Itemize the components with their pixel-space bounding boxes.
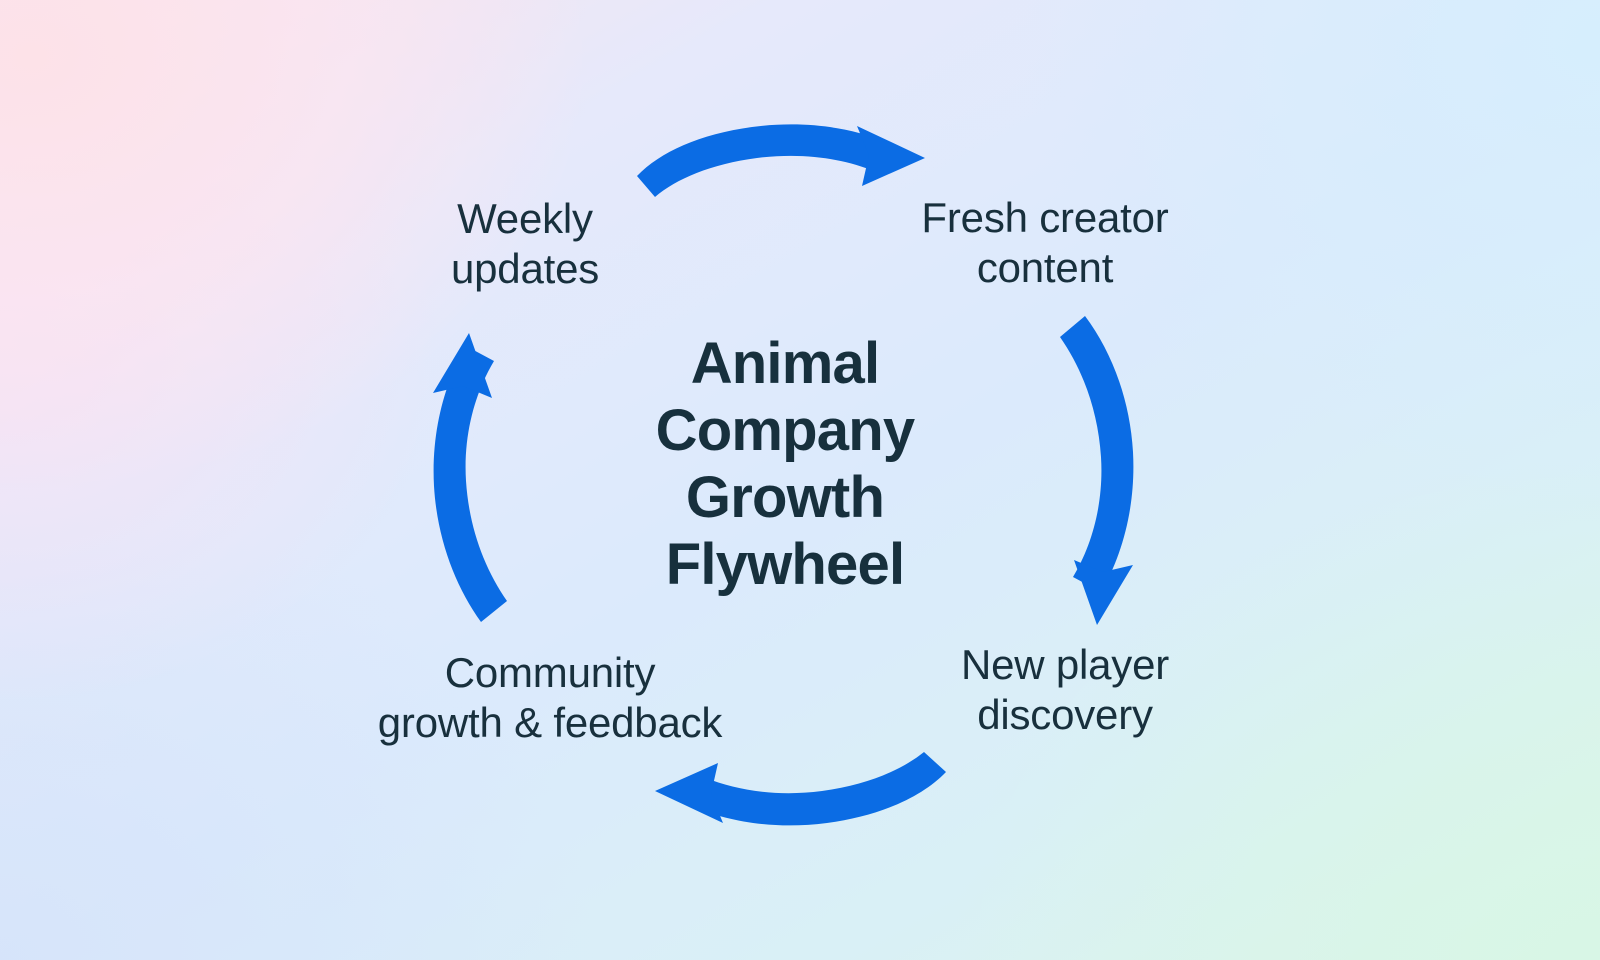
arrow-bottom-icon [655,752,946,825]
node-label-fresh-creator-content: Fresh creator content [885,193,1205,293]
node-label-new-player-discovery: New player discovery [910,640,1220,740]
arrow-left-icon [433,333,507,622]
node-label-weekly-updates: Weekly updates [370,194,680,294]
flywheel-diagram: Weekly updates Fresh creator content New… [0,0,1600,960]
arrow-right-icon [1060,316,1133,625]
center-title: Animal Company Growth Flywheel [560,330,1010,598]
node-label-community-growth-feedback: Community growth & feedback [330,648,770,748]
arrow-top-icon [637,124,925,197]
